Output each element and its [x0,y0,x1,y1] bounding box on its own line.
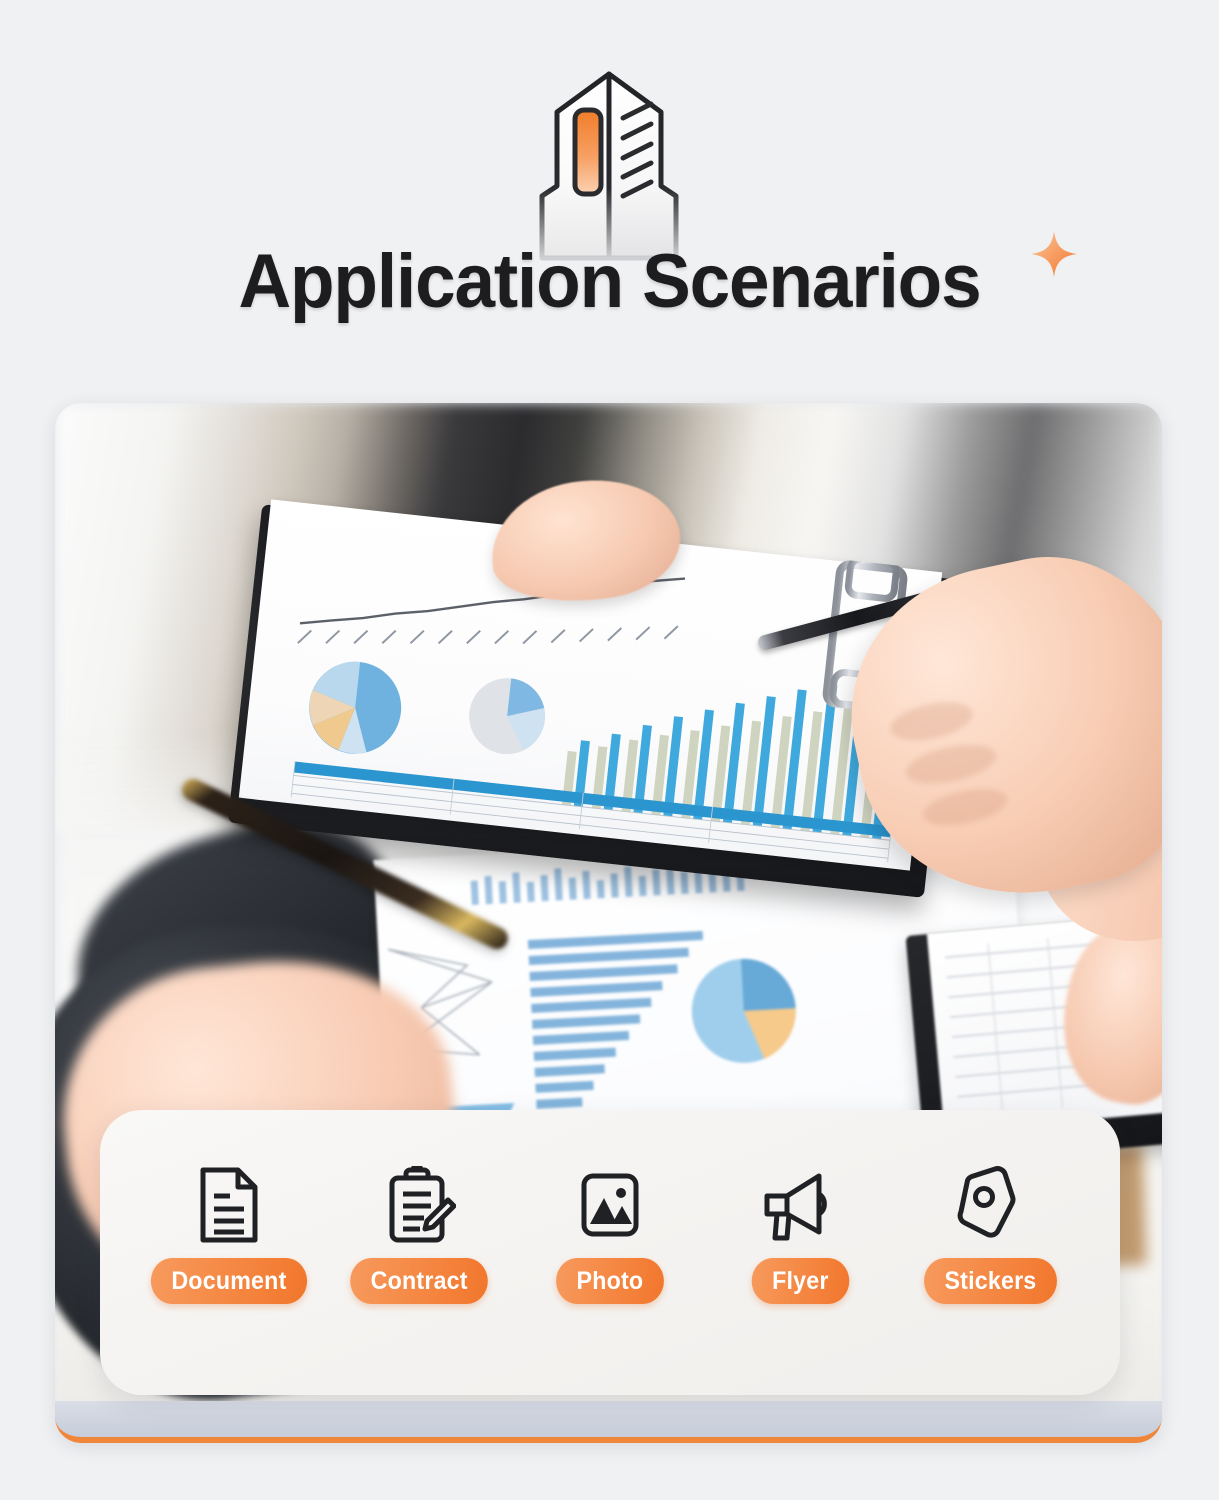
badge-flyer[interactable]: Flyer [710,1166,890,1304]
image-icon [576,1166,644,1244]
clipboard-pencil-icon [384,1166,456,1244]
badge-label-photo[interactable]: Photo [556,1258,664,1304]
badge-label-document[interactable]: Document [151,1258,307,1304]
badge-label-stickers[interactable]: Stickers [924,1258,1057,1304]
page-header: Application Scenarios [0,0,1219,392]
badge-label-contract[interactable]: Contract [351,1258,489,1304]
megaphone-icon [761,1166,839,1244]
photo-bottom-accent-band [55,1401,1162,1443]
badge-contract[interactable]: Contract [330,1166,510,1304]
scenario-badge-row: Document Contract [100,1110,1120,1340]
price-tag-icon [954,1166,1028,1244]
badge-photo[interactable]: Photo [520,1166,700,1304]
scenario-badge-card: Document Contract [100,1110,1120,1395]
page-title: Application Scenarios [238,244,980,320]
badge-stickers[interactable]: Stickers [901,1166,1081,1304]
badge-label-flyer[interactable]: Flyer [752,1258,849,1304]
document-icon [196,1166,262,1244]
badge-document[interactable]: Document [139,1166,319,1304]
sparkle-icon [1028,228,1080,280]
